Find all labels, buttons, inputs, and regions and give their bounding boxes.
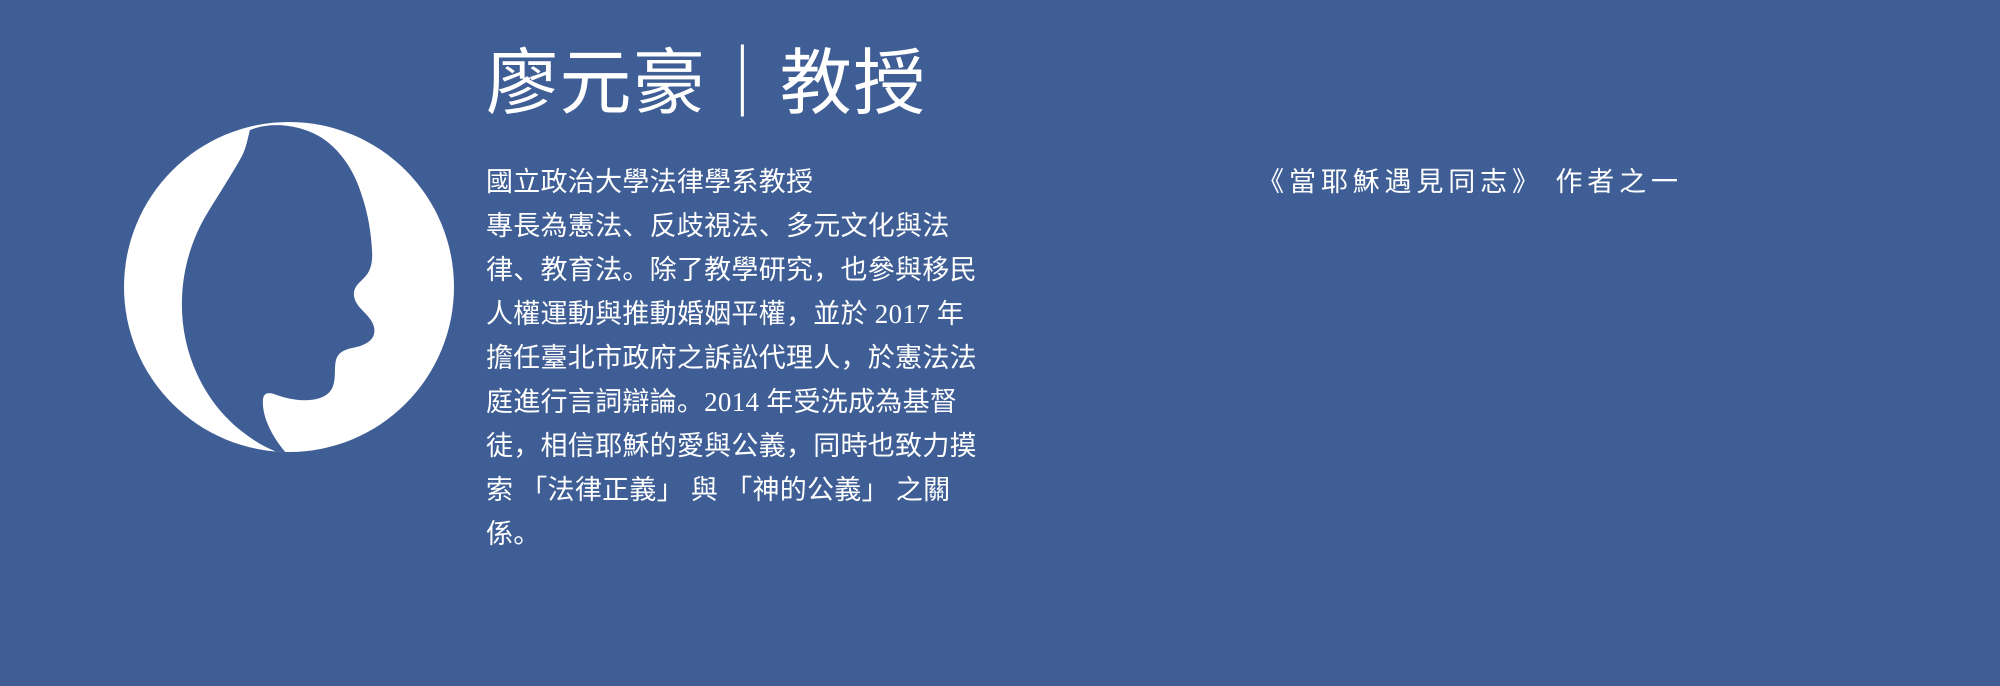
bio-line: 人權運動與推動婚姻平權，並於 2017 年	[486, 292, 986, 336]
bio-line: 索 「法律正義」 與 「神的公義」 之關	[486, 468, 986, 512]
bio-line: 擔任臺北市政府之訴訟代理人，於憲法法	[486, 336, 986, 380]
profile-card: 廖元豪｜教授 國立政治大學法律學系教授 專長為憲法、反歧視法、多元文化與法 律、…	[0, 0, 2000, 686]
bio-line: 徒，相信耶穌的愛與公義，同時也致力摸	[486, 424, 986, 468]
bio-paragraph: 國立政治大學法律學系教授 專長為憲法、反歧視法、多元文化與法 律、教育法。除了教…	[486, 160, 986, 556]
bio-line: 律、教育法。除了教學研究，也參與移民	[486, 248, 986, 292]
avatar-circle-background	[124, 122, 454, 452]
avatar	[124, 122, 454, 452]
bio-line: 係。	[486, 512, 986, 556]
page-title: 廖元豪｜教授	[486, 46, 927, 124]
person-silhouette-avatar-icon	[124, 122, 454, 452]
book-credit-text: 《當耶穌遇見同志》 作者之一	[1020, 160, 1920, 204]
bio-line: 國立政治大學法律學系教授	[486, 160, 986, 204]
bio-line: 庭進行言詞辯論。2014 年受洗成為基督	[486, 380, 986, 424]
book-credit: 《當耶穌遇見同志》 作者之一	[1020, 160, 1920, 204]
bio-line: 專長為憲法、反歧視法、多元文化與法	[486, 204, 986, 248]
